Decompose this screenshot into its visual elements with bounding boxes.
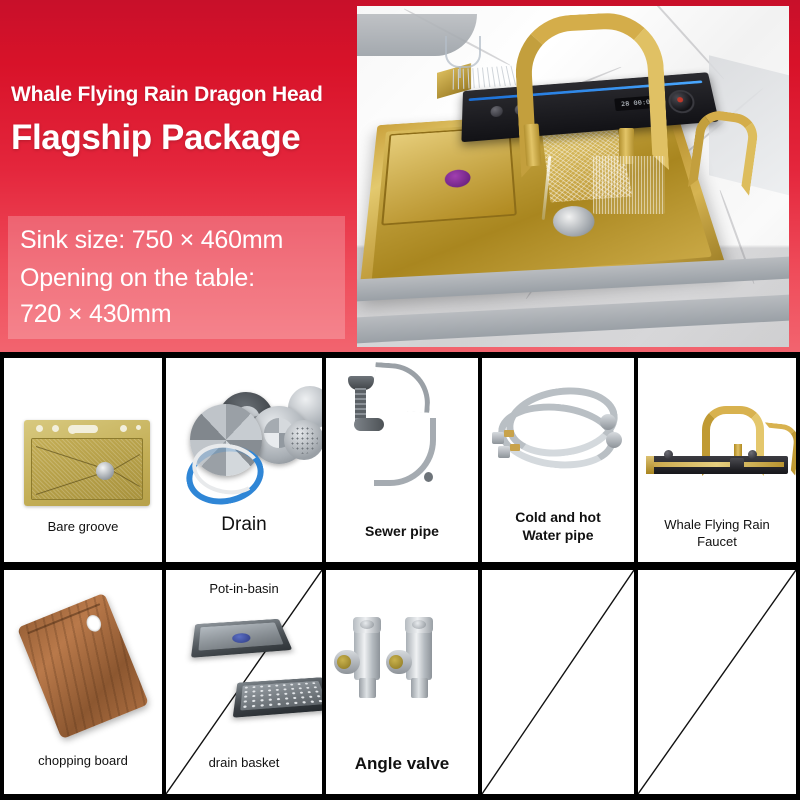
- cell-diagonal-strikethrough-icon: [638, 570, 796, 794]
- sink-tap-hole-icon: [136, 425, 141, 430]
- cell-label-pot-in-basin: Pot-in-basin: [166, 582, 322, 597]
- cell-label-bare-groove: Bare groove: [4, 520, 162, 535]
- grid-cell-water-pipe[interactable]: Cold and hot Water pipe: [482, 358, 634, 562]
- board-hang-hole-icon: [84, 613, 103, 634]
- spec-opening-label: Opening on the table:: [20, 264, 255, 293]
- counter-band-lower-2: [357, 295, 789, 344]
- cell-label-drain-basket: drain basket: [166, 756, 322, 771]
- drain-perforated-cup-icon: [284, 420, 322, 460]
- hero-text-column: Whale Flying Rain Dragon Head Flagship P…: [0, 0, 358, 352]
- faucet-knob-icon: [664, 450, 673, 459]
- hose-brass-tip-icon: [504, 430, 514, 437]
- hose-connector-icon: [492, 432, 504, 444]
- basket-perforated-surface: [240, 681, 322, 711]
- pot-in-basin-tray-art: [191, 619, 292, 658]
- wine-glass-icon: [445, 36, 481, 68]
- drain-basket-art: [233, 677, 322, 717]
- package-contents-grid: Bare groove Drain Sewer pipe: [0, 352, 800, 800]
- valve-body: [406, 628, 432, 680]
- valve-inlet-thread: [411, 678, 428, 698]
- cell-label-angle-valve: Angle valve: [326, 754, 478, 773]
- faucet-knob-icon: [748, 450, 757, 459]
- hero-title: Flagship Package: [11, 118, 356, 158]
- sewer-pipe-neck: [355, 388, 366, 422]
- hose-brass-tip-icon: [510, 444, 520, 451]
- hero-banner: Whale Flying Rain Dragon Head Flagship P…: [0, 0, 800, 352]
- valve-outlet-icon: [334, 650, 360, 674]
- valve-inlet-thread: [359, 678, 376, 698]
- faucet-gold-end-cap: [646, 456, 654, 474]
- waterfall-curtain-icon: [593, 156, 665, 214]
- faucet-stem: [524, 124, 542, 167]
- grid-cell-chopping-board[interactable]: chopping board: [4, 570, 162, 794]
- cell-label-drain: Drain: [166, 514, 322, 535]
- grid-cell-angle-valve[interactable]: Angle valve: [326, 570, 478, 794]
- valve-outlet-icon: [386, 650, 412, 674]
- grid-cell-empty-2[interactable]: [638, 570, 796, 794]
- valve-body: [354, 628, 380, 680]
- bare-groove-sink-art: [24, 420, 150, 506]
- sewer-overflow-hose-icon: [372, 362, 432, 413]
- faucet-gold-trim: [650, 462, 784, 467]
- cell-diagonal-strikethrough-icon: [482, 570, 634, 794]
- faucet-pulldown-head-icon: [730, 458, 744, 470]
- sink-drain-strainer-icon: [551, 205, 597, 239]
- cell-label-faucet-line1: Whale Flying Rain: [638, 518, 796, 533]
- cell-label-water-pipe-line1: Cold and hot: [482, 510, 634, 526]
- grid-cell-faucet[interactable]: Whale Flying Rain Faucet: [638, 358, 796, 562]
- grid-cell-sewer-pipe[interactable]: Sewer pipe: [326, 358, 478, 562]
- sink-slot-icon: [70, 425, 98, 433]
- product-infographic: Whale Flying Rain Dragon Head Flagship P…: [0, 0, 800, 800]
- marble-countertop-scene: 28 00:00: [357, 6, 789, 347]
- hose-connector-icon: [498, 446, 510, 458]
- specification-panel: Sink size: 750 × 460mm Opening on the ta…: [8, 216, 345, 339]
- cell-label-water-pipe-line2: Water pipe: [482, 528, 634, 544]
- valve-cap-icon: [353, 617, 381, 633]
- basin-drain-icon: [96, 462, 114, 480]
- hose-nut-icon: [606, 432, 622, 448]
- deck-button-icon[interactable]: [491, 106, 503, 118]
- grid-cell-empty-1[interactable]: [482, 570, 634, 794]
- sink-cup-washer-rack: [453, 66, 517, 90]
- cell-label-faucet-line2: Faucet: [638, 535, 796, 550]
- hero-subtitle: Whale Flying Rain Dragon Head: [11, 83, 356, 107]
- grid-cell-drain[interactable]: Drain: [166, 358, 322, 562]
- chopping-board-art: [17, 593, 149, 739]
- sink-tap-hole-icon: [52, 425, 59, 432]
- grid-cell-bare-groove[interactable]: Bare groove: [4, 358, 162, 562]
- valve-cap-icon: [405, 617, 433, 633]
- spec-sink-size: Sink size: 750 × 460mm: [20, 226, 283, 255]
- cell-label-sewer-pipe: Sewer pipe: [326, 524, 478, 540]
- deck-rotary-knob[interactable]: [667, 89, 697, 114]
- grid-cell-pot-and-basket[interactable]: Pot-in-basin drain basket: [166, 570, 322, 794]
- secondary-faucet-icon: [688, 108, 761, 196]
- spec-opening-size: 720 × 430mm: [20, 300, 171, 329]
- product-photo: 28 00:00: [357, 6, 789, 347]
- sink-tap-hole-icon: [36, 425, 43, 432]
- hose-nut-icon: [600, 414, 616, 430]
- cell-label-chopping-board: chopping board: [4, 754, 162, 769]
- sewer-hose-tip: [424, 472, 433, 482]
- sink-tap-hole-icon: [120, 425, 127, 432]
